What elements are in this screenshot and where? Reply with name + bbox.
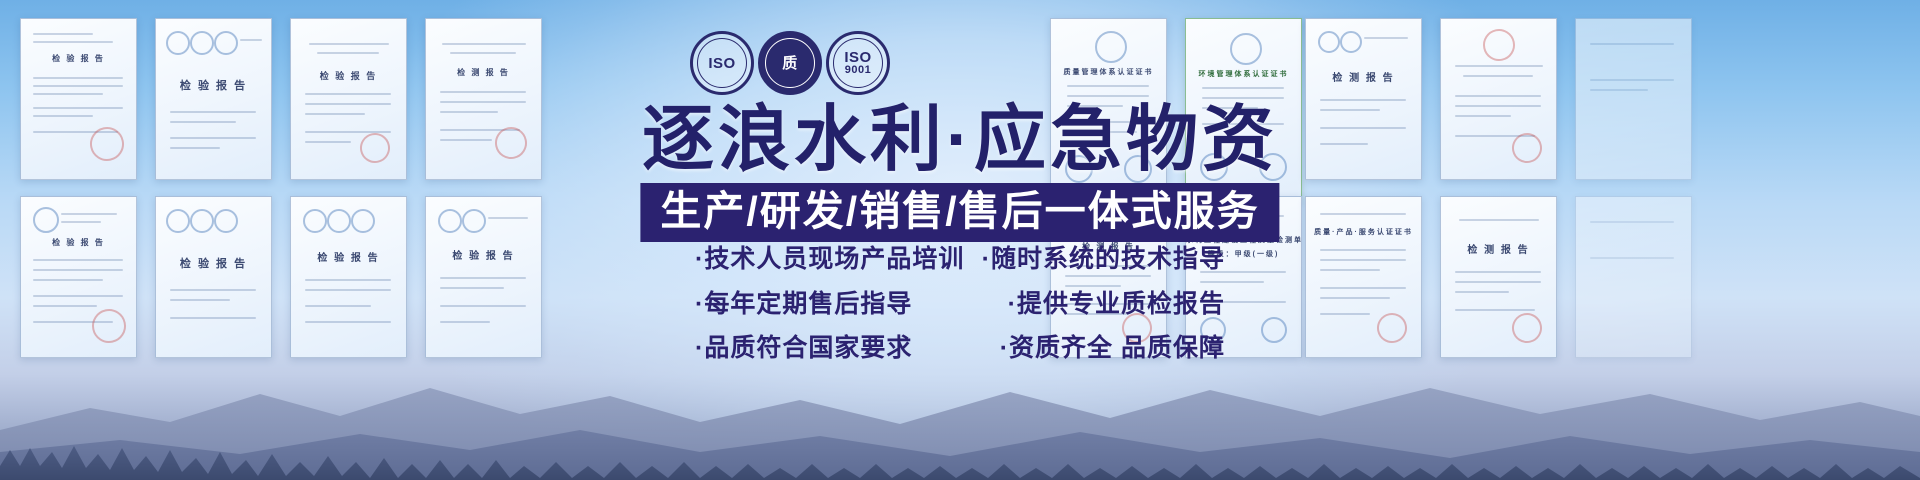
feature-item: ·技术人员现场产品培训 (695, 246, 964, 274)
feature-item: ·资质齐全 品质保障 (1000, 335, 1225, 363)
feature-row: ·每年定期售后指导 ·提供专业质检报告 (695, 291, 1225, 319)
feature-list: ·技术人员现场产品培训 ·随时系统的技术指导 ·每年定期售后指导 ·提供专业质检… (695, 246, 1225, 380)
subtitle-band: 生产/研发/销售/售后一体式服务 (640, 183, 1279, 242)
page-title: 逐浪水利·应急物资 (0, 104, 1920, 176)
feature-item: ·品质符合国家要求 (695, 335, 912, 363)
promo-banner: 检 验 报 告 检 验 报 告 检 验 报 告 (0, 0, 1920, 480)
quality-emblem-label: 质 (782, 56, 798, 71)
feature-item: ·随时系统的技术指导 (982, 246, 1225, 274)
feature-item: ·提供专业质检报告 (1008, 291, 1225, 319)
iso-badge-label: ISO (708, 56, 735, 71)
banner-content: 逐浪水利·应急物资 生产/研发/销售/售后一体式服务 ·技术人员现场产品培训 ·… (0, 0, 1920, 480)
feature-row: ·品质符合国家要求 ·资质齐全 品质保障 (695, 335, 1225, 363)
iso-9001-label: ISO 9001 (844, 50, 871, 76)
subtitle-text: 生产/研发/销售/售后一体式服务 (660, 190, 1259, 233)
feature-item: ·每年定期售后指导 (695, 291, 912, 319)
iso-9001-line2: 9001 (844, 65, 871, 76)
feature-row: ·技术人员现场产品培训 ·随时系统的技术指导 (695, 246, 1225, 274)
